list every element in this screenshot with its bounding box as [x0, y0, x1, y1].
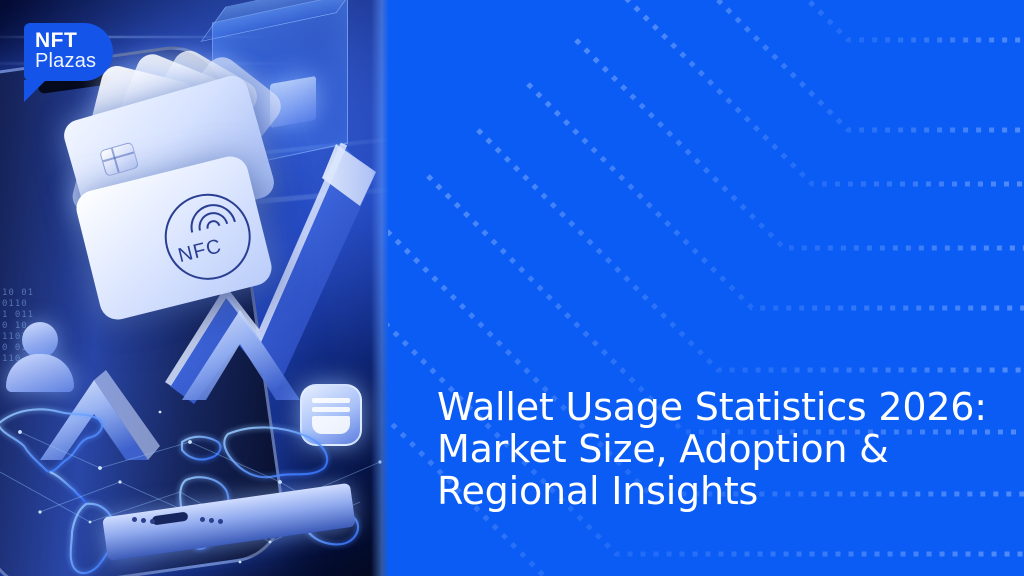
- hero-artwork: NFC 10 01 0110 1 011 0: [0, 0, 389, 576]
- nft-plazas-logo[interactable]: NFT Plazas: [24, 23, 113, 81]
- title-line-3: Regional Insights: [437, 470, 997, 512]
- card-chip-icon: [99, 142, 139, 177]
- logo-tail-shape: [24, 80, 46, 102]
- title-line-2: Market Size, Adoption &: [437, 428, 997, 470]
- page-title: Wallet Usage Statistics 2026: Market Siz…: [437, 386, 997, 512]
- logo-text-plazas: Plazas: [35, 51, 96, 71]
- title-line-1: Wallet Usage Statistics 2026:: [437, 386, 997, 428]
- logo-text-nft: NFT: [35, 30, 77, 51]
- panel-edge-glow: [371, 0, 389, 576]
- banner: NFC 10 01 0110 1 011 0: [0, 0, 1024, 576]
